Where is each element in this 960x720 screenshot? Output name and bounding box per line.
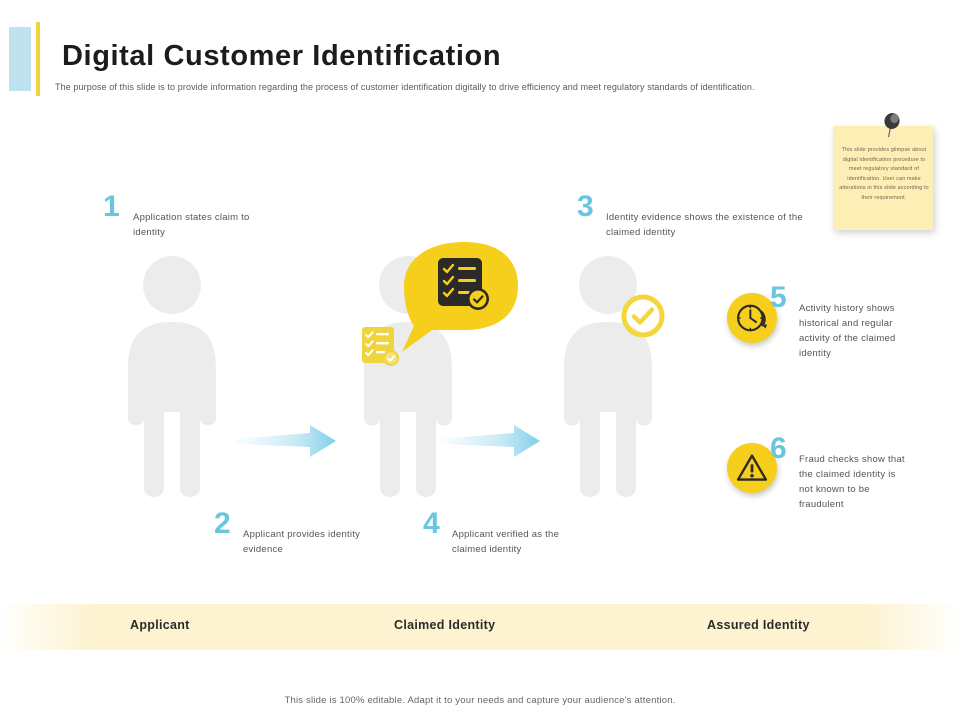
step-text-5: Activity history shows historical and re… bbox=[799, 301, 917, 361]
chest-checklist-icon bbox=[362, 327, 404, 371]
slide-canvas: Digital Customer Identification The purp… bbox=[0, 0, 960, 720]
page-subtitle: The purpose of this slide is to provide … bbox=[55, 82, 755, 92]
check-circle-icon bbox=[619, 292, 667, 340]
step-number-3: 3 bbox=[577, 192, 594, 222]
person-figure-applicant bbox=[112, 252, 232, 502]
step-text-4: Applicant verified as the claimed identi… bbox=[452, 527, 582, 557]
arrow-applicant-to-claimed-icon bbox=[236, 423, 336, 459]
step-number-4: 4 bbox=[423, 509, 440, 539]
step-text-2: Applicant provides identity evidence bbox=[243, 527, 363, 557]
clock-history-icon bbox=[734, 300, 770, 336]
page-title: Digital Customer Identification bbox=[62, 40, 501, 73]
step-number-1: 1 bbox=[103, 192, 120, 222]
step-text-6: Fraud checks show that the claimed ident… bbox=[799, 452, 911, 512]
sticky-note-text: This slide provides glimpse about digita… bbox=[838, 146, 930, 204]
speech-bubble-checklist-icon bbox=[388, 236, 528, 356]
stage-label-assured-identity: Assured Identity bbox=[707, 618, 810, 632]
arrow-claimed-to-assured-icon bbox=[440, 423, 540, 459]
warning-triangle-icon bbox=[735, 451, 769, 485]
person-figure-assured-identity bbox=[548, 252, 668, 502]
stage-label-claimed-identity: Claimed Identity bbox=[394, 618, 495, 632]
step-number-6: 6 bbox=[770, 434, 787, 464]
step-number-2: 2 bbox=[214, 509, 231, 539]
accent-bar-blue bbox=[9, 27, 31, 91]
step-text-1: Application states claim to identity bbox=[133, 210, 253, 240]
push-pin-icon bbox=[880, 112, 902, 138]
step-text-3: Identity evidence shows the existence of… bbox=[606, 210, 806, 240]
accent-bar-yellow bbox=[36, 22, 40, 96]
stage-label-applicant: Applicant bbox=[130, 618, 190, 632]
step-number-5: 5 bbox=[770, 283, 787, 313]
footer-note: This slide is 100% editable. Adapt it to… bbox=[0, 695, 960, 706]
